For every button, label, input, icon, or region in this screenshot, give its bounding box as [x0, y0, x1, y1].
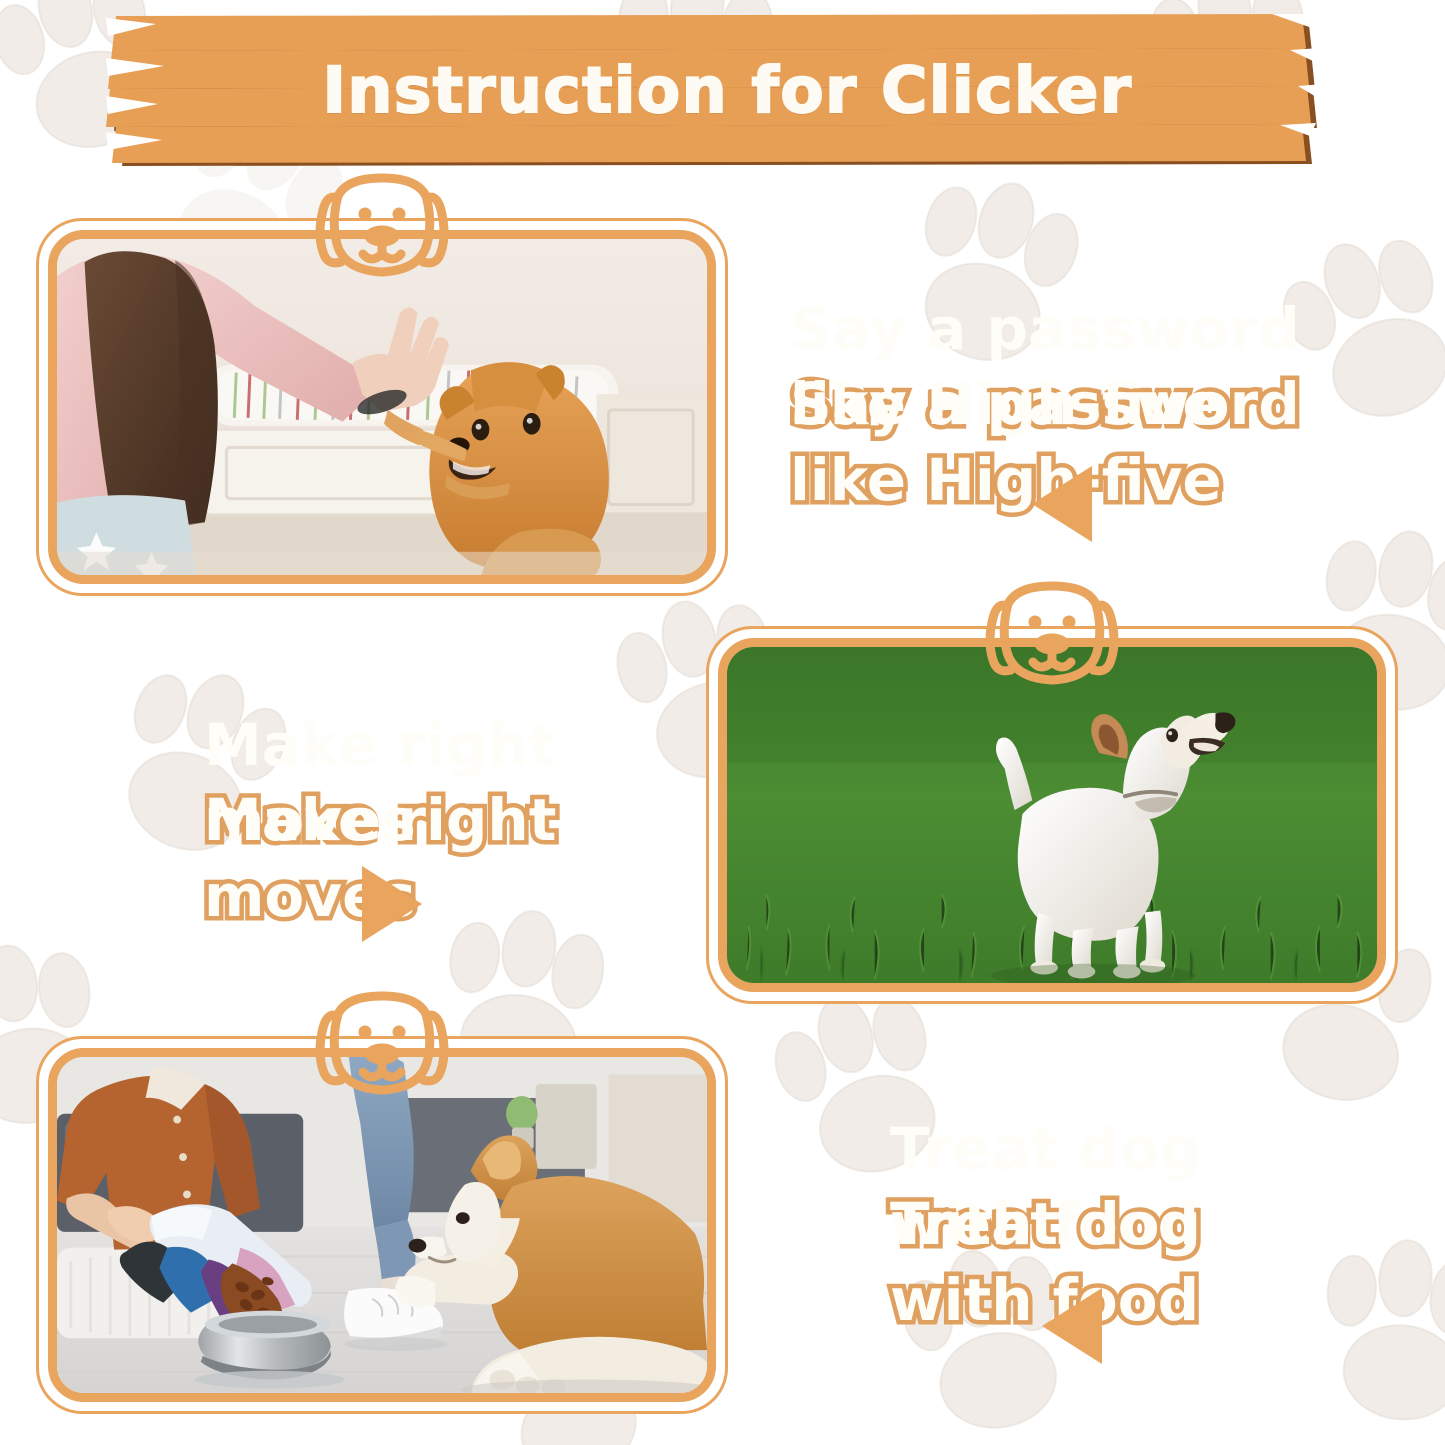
photo-frame-step-2 — [706, 626, 1398, 1004]
triangle-right-icon-step-2 — [362, 866, 422, 942]
step-3-caption: Treat dog with food Treat dog with food — [890, 1112, 1410, 1414]
page-title: Instruction for Clicker — [112, 14, 1327, 166]
step-2-caption-fill: Make right moves — [204, 708, 556, 859]
step-1-caption-fill: Say a password like High-five — [790, 292, 1300, 443]
photo-frame-step-3 — [36, 1036, 728, 1414]
step-3-caption-fill: Treat dog with food — [890, 1112, 1201, 1263]
triangle-left-icon-step-1 — [1032, 466, 1092, 542]
dog-head-icon — [307, 998, 457, 1102]
photo-high-five — [57, 239, 707, 575]
photo-terrier-on-grass — [727, 647, 1377, 983]
photo-frame-step-1 — [36, 218, 728, 596]
triangle-left-icon-step-3 — [1042, 1288, 1102, 1364]
dog-head-icon — [977, 588, 1127, 692]
step-1-caption: Say a password like High-five Say a pass… — [790, 292, 1350, 594]
dog-head-icon — [307, 180, 457, 284]
banner-sign: Instruction for Clicker — [112, 14, 1327, 166]
step-2-caption: Make right moves Make right moves — [204, 708, 724, 1010]
photo-feeding-dog — [57, 1057, 707, 1393]
infographic-root: Instruction for Clicker — [0, 0, 1445, 1445]
